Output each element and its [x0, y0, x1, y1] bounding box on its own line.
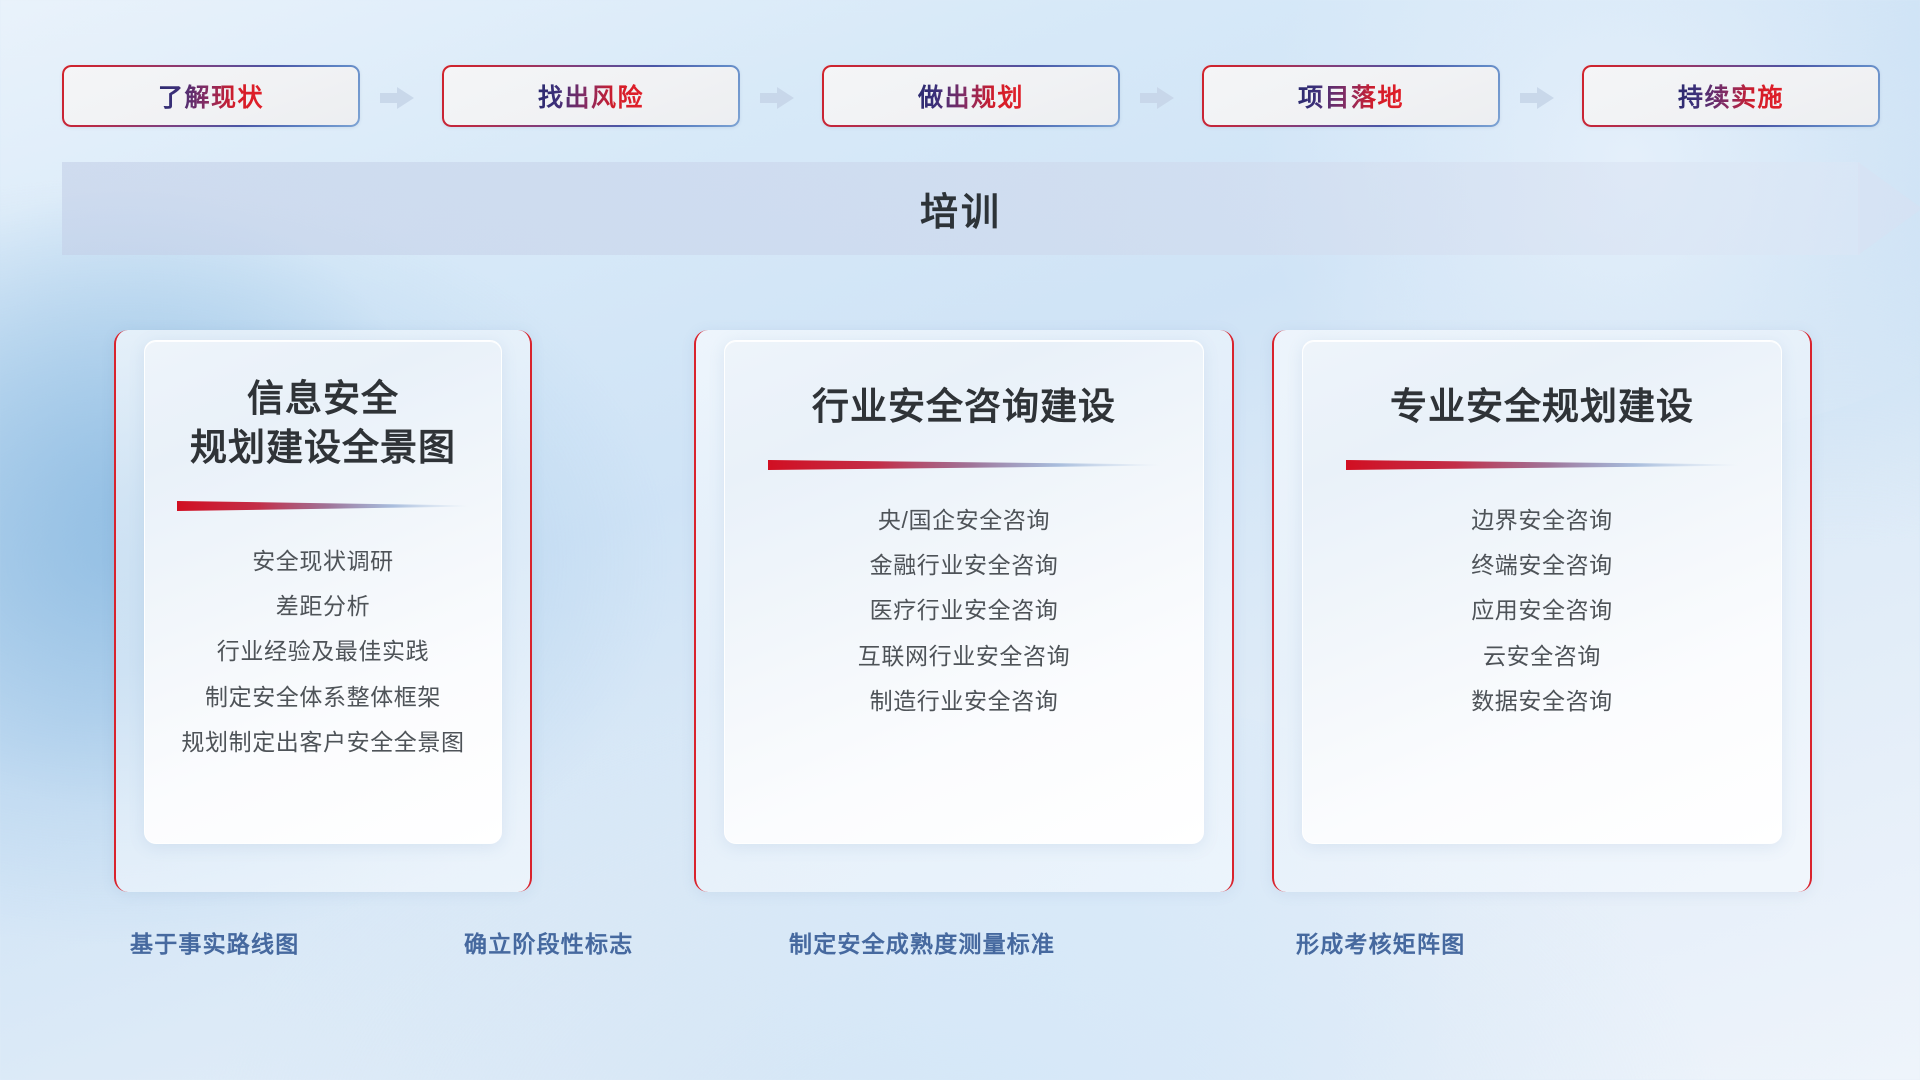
card-1-title: 信息安全 规划建设全景图 [190, 375, 456, 473]
process-step-5-label: 持续实施 [1678, 78, 1784, 114]
training-banner: 培训 [62, 162, 1920, 255]
process-step-4[interactable]: 项目落地 [1202, 65, 1500, 127]
process-step-1-label: 了解现状 [158, 78, 264, 114]
list-item: 边界安全咨询 [1303, 498, 1781, 543]
process-arrow-4-icon [1520, 87, 1554, 109]
card-3-title: 专业安全规划建设 [1390, 383, 1694, 432]
card-1-inner: 信息安全 规划建设全景图 安全现状调研 [144, 340, 502, 844]
process-step-2[interactable]: 找出风险 [442, 65, 740, 127]
card-2-inner: 行业安全咨询建设 央/国企安全咨询 [724, 340, 1204, 844]
process-step-5[interactable]: 持续实施 [1582, 65, 1880, 127]
list-item: 规划制定出客户安全全景图 [145, 720, 501, 765]
process-arrow-3-icon [1140, 87, 1174, 109]
process-step-4-label: 项目落地 [1298, 78, 1404, 114]
training-banner-title: 培训 [62, 162, 1860, 255]
list-item: 制造行业安全咨询 [725, 679, 1203, 724]
card-3-list: 边界安全咨询 终端安全咨询 应用安全咨询 云安全咨询 数据安全咨询 [1303, 498, 1781, 724]
card-3-inner: 专业安全规划建设 边界安全咨询 [1302, 340, 1782, 844]
card-2-list: 央/国企安全咨询 金融行业安全咨询 医疗行业安全咨询 互联网行业安全咨询 制造行… [725, 498, 1203, 724]
list-item: 安全现状调研 [145, 539, 501, 584]
outcome-labels-row: 基于事实路线图 确立阶段性标志 制定安全成熟度测量标准 形成考核矩阵图 [0, 925, 1920, 969]
process-arrow-1-icon [380, 87, 414, 109]
list-item: 云安全咨询 [1303, 634, 1781, 679]
card-2-title: 行业安全咨询建设 [812, 383, 1116, 432]
list-item: 应用安全咨询 [1303, 588, 1781, 633]
training-banner-body [62, 162, 1860, 255]
list-item: 差距分析 [145, 584, 501, 629]
card-1-list: 安全现状调研 差距分析 行业经验及最佳实践 制定安全体系整体框架 规划制定出客户… [145, 539, 501, 765]
card-3-divider [1346, 458, 1738, 472]
list-item: 医疗行业安全咨询 [725, 588, 1203, 633]
list-item: 终端安全咨询 [1303, 543, 1781, 588]
process-step-3-label: 做出规划 [918, 78, 1024, 114]
cards-row: 信息安全 规划建设全景图 安全现状调研 [0, 330, 1920, 890]
card-1-divider [177, 499, 469, 513]
card-1[interactable]: 信息安全 规划建设全景图 安全现状调研 [114, 330, 532, 892]
list-item: 金融行业安全咨询 [725, 543, 1203, 588]
list-item: 行业经验及最佳实践 [145, 629, 501, 674]
card-2[interactable]: 行业安全咨询建设 央/国企安全咨询 [694, 330, 1234, 892]
card-3[interactable]: 专业安全规划建设 边界安全咨询 [1272, 330, 1812, 892]
outcome-label-4: 形成考核矩阵图 [1296, 925, 1465, 959]
card-2-divider [768, 458, 1160, 472]
process-arrow-2-icon [760, 87, 794, 109]
list-item: 制定安全体系整体框架 [145, 675, 501, 720]
outcome-label-1: 基于事实路线图 [130, 925, 299, 959]
process-step-2-label: 找出风险 [538, 78, 644, 114]
outcome-label-3: 制定安全成熟度测量标准 [789, 925, 1055, 959]
process-step-1[interactable]: 了解现状 [62, 65, 360, 127]
list-item: 央/国企安全咨询 [725, 498, 1203, 543]
outcome-label-2: 确立阶段性标志 [464, 925, 633, 959]
list-item: 互联网行业安全咨询 [725, 634, 1203, 679]
list-item: 数据安全咨询 [1303, 679, 1781, 724]
process-flow-row: 了解现状 找出风险 做出规划 项目落地 持续实施 [0, 65, 1920, 127]
process-step-3[interactable]: 做出规划 [822, 65, 1120, 127]
training-banner-arrow-icon [1858, 146, 1920, 271]
